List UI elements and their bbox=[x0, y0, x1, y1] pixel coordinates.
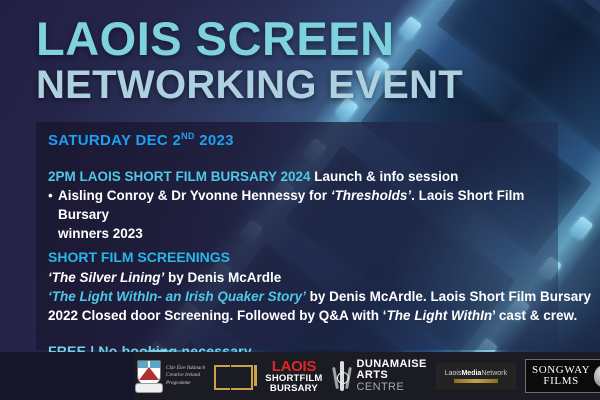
event-poster: LAOIS SCREEN NETWORKING EVENT SATURDAY D… bbox=[0, 0, 600, 400]
bursary-line-3: BURSARY bbox=[265, 384, 322, 394]
film-2-line2-a: 2022 Closed door Screening. Followed by … bbox=[48, 308, 387, 323]
bullet-part-1: Aisling Conroy & Dr Yvonne Hennessy for bbox=[58, 188, 331, 203]
session-time-title: 2PM LAOIS SHORT FILM BURSARY 2024 bbox=[48, 169, 311, 184]
logo-laois-media-network: LaoisMediaNetwork bbox=[436, 363, 516, 390]
bursary-line-1: LAOIS bbox=[265, 359, 322, 374]
film-2-line2-title: The Light WithIn bbox=[387, 308, 493, 323]
screening-film-2: ‘The Light WithIn- an Irish Quaker Story… bbox=[48, 287, 554, 306]
songway-horse-icon bbox=[594, 364, 600, 388]
songway-wordmark: SONGWAY FILMS bbox=[532, 365, 590, 387]
session-subtitle: Launch & info session bbox=[311, 169, 459, 184]
lmn-part-a: Laois bbox=[445, 370, 462, 377]
screening-film-2-line-2: 2022 Closed door Screening. Followed by … bbox=[48, 306, 554, 325]
headline-line-1: LAOIS SCREEN bbox=[36, 16, 463, 62]
film-1-title: ‘The Silver Lining’ bbox=[48, 270, 164, 285]
dunamaise-line-2: ARTS CENTRE bbox=[357, 370, 427, 393]
logo-songway-films: SONGWAY FILMS bbox=[525, 359, 600, 393]
session-line: 2PM LAOIS SHORT FILM BURSARY 2024 Launch… bbox=[48, 167, 554, 186]
film-2-credit: by Denis McArdle. Laois Short Film Bursa… bbox=[306, 289, 591, 304]
film-2-title: ‘The Light WithIn- an Irish Quaker Story… bbox=[48, 289, 306, 304]
session-bullet: • Aisling Conroy & Dr Yvonne Hennessy fo… bbox=[48, 186, 554, 243]
film-1-credit: by Denis McArdle bbox=[164, 270, 281, 285]
sponsor-logo-strip: Clár Éire Ildánach Creative Ireland Prog… bbox=[135, 352, 600, 400]
bursary-wordmark: LAOIS SHORTFILM BURSARY bbox=[265, 359, 322, 393]
event-date-ordinal: ND bbox=[181, 131, 195, 141]
lmn-part-b: Media bbox=[461, 370, 481, 377]
content-panel: SATURDAY DEC 2ND 2023 2PM LAOIS SHORT FI… bbox=[36, 122, 558, 350]
bullet-text: Aisling Conroy & Dr Yvonne Hennessy for … bbox=[58, 186, 554, 243]
dunamaise-mark-icon bbox=[332, 361, 352, 391]
event-date: SATURDAY DEC 2ND 2023 bbox=[48, 122, 554, 149]
film-2-line2-b: ’ cast & crew. bbox=[492, 308, 577, 323]
dunamaise-arts: ARTS bbox=[357, 369, 389, 381]
poster-headline: LAOIS SCREEN NETWORKING EVENT bbox=[36, 16, 463, 105]
panel-text: SATURDAY DEC 2ND 2023 2PM LAOIS SHORT FI… bbox=[48, 122, 554, 362]
creative-ireland-text: Clár Éire Ildánach Creative Ireland Prog… bbox=[166, 365, 205, 388]
logo-laois-shortfilm-bursary: LAOIS SHORTFILM BURSARY bbox=[214, 359, 322, 393]
event-date-year: 2023 bbox=[195, 132, 234, 149]
logo-dunamaise-arts-centre: DUNAMAISE ARTS CENTRE bbox=[332, 359, 427, 394]
logo-creative-ireland: Clár Éire Ildánach Creative Ireland Prog… bbox=[135, 359, 205, 393]
songway-line-2: FILMS bbox=[532, 376, 590, 387]
lmn-part-c: Network bbox=[481, 370, 507, 377]
creative-ireland-line-3: Programme bbox=[166, 380, 205, 388]
dunamaise-wordmark: DUNAMAISE ARTS CENTRE bbox=[357, 359, 427, 394]
laois-media-network-wordmark: LaoisMediaNetwork bbox=[445, 370, 507, 377]
bullet-dot: • bbox=[48, 186, 58, 243]
laois-county-crest-icon bbox=[135, 359, 161, 393]
dunamaise-centre: CENTRE bbox=[357, 381, 405, 393]
poster-body: 2PM LAOIS SHORT FILM BURSARY 2024 Launch… bbox=[48, 167, 554, 362]
footer-left-fill bbox=[0, 352, 136, 400]
film-frame-icon bbox=[214, 363, 260, 389]
creative-ireland-line-2: Creative Ireland bbox=[166, 372, 205, 380]
screenings-heading: SHORT FILM SCREENINGS bbox=[48, 248, 554, 268]
headline-line-2: NETWORKING EVENT bbox=[36, 66, 463, 105]
screening-film-1: ‘The Silver Lining’ by Denis McArdle bbox=[48, 268, 554, 287]
creative-ireland-line-1: Clár Éire Ildánach bbox=[166, 365, 205, 373]
bullet-line-2: winners 2023 bbox=[58, 226, 143, 241]
lmn-accent-bar bbox=[454, 379, 498, 383]
bullet-film-title: ‘Thresholds’ bbox=[331, 188, 411, 203]
event-date-prefix: SATURDAY DEC 2 bbox=[48, 132, 181, 149]
